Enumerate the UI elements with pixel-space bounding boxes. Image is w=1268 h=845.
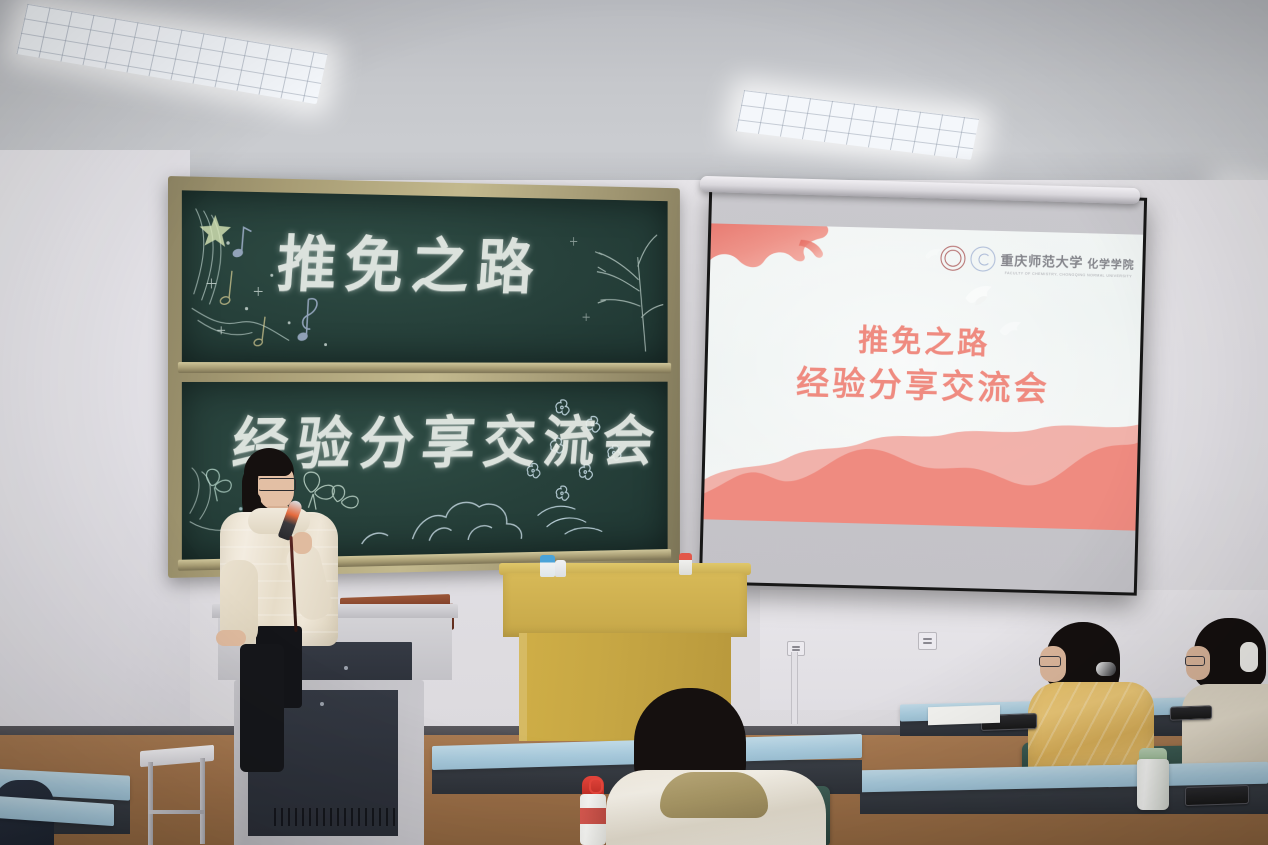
ceiling-light-panel-left: [16, 4, 327, 104]
university-seal-icon: [940, 245, 966, 271]
bottle-blue-cap[interactable]: [540, 555, 555, 577]
student-beige-jacket: [1178, 618, 1268, 768]
wall-outlet-right: [918, 632, 937, 650]
speaker-hand-on-lectern: [216, 630, 246, 646]
blackboard-upper-panel: 推免之路: [182, 190, 668, 363]
bottle-white[interactable]: [555, 560, 566, 577]
blackboard-title-top: 推免之路: [275, 214, 545, 305]
stool[interactable]: [140, 748, 220, 844]
smartphone-left-desk[interactable]: [1170, 705, 1212, 720]
lectern-vents: [274, 808, 400, 826]
paper-sheet[interactable]: [928, 705, 1000, 726]
chemistry-logo-icon: [970, 246, 996, 272]
stool-leg-right: [200, 758, 205, 844]
chalk-rail-upper: [178, 362, 671, 373]
classroom-scene: 推免之路: [0, 0, 1268, 845]
red-cap-bottle[interactable]: [580, 776, 606, 845]
teacher-desk-front: [503, 573, 747, 637]
mountain-silhouette: [704, 409, 1139, 530]
student-yellow-quilting: [1028, 682, 1154, 774]
smartphone-right-desk[interactable]: [1185, 785, 1249, 806]
student-front-center: [606, 688, 826, 845]
projector-screen[interactable]: 重庆师范大学 化学学院 FACULTY OF CHEMISTRY, CHONGQ…: [699, 186, 1147, 595]
green-thermos[interactable]: [1137, 748, 1169, 810]
speaker-hair-front: [246, 450, 292, 476]
dove-icon-1: [963, 282, 998, 309]
student-beige-glasses: [1185, 656, 1205, 666]
student-yellow-glasses: [1039, 656, 1061, 667]
student-front-hood: [660, 772, 768, 818]
stool-crossbar: [148, 810, 204, 814]
bottle-red-cap[interactable]: [679, 553, 692, 575]
student-yellow-hairtie: [1096, 662, 1116, 676]
speaker-legs: [240, 644, 284, 772]
speaker-glasses: [258, 478, 296, 491]
university-name: 重庆师范大学 化学学院: [1000, 250, 1134, 272]
speaker-mic-hand: [292, 532, 312, 554]
university-logo-band: 重庆师范大学 化学学院 FACULTY OF CHEMISTRY, CHONGQ…: [940, 245, 1134, 275]
speaker: [196, 448, 356, 778]
red-ribbon-decoration: [704, 223, 856, 313]
student-beige-hairclip: [1240, 642, 1258, 672]
stool-leg-left: [148, 762, 153, 845]
presentation-slide: 重庆师范大学 化学学院 FACULTY OF CHEMISTRY, CHONGQ…: [704, 223, 1144, 530]
student-beige-coat: [1182, 684, 1268, 770]
